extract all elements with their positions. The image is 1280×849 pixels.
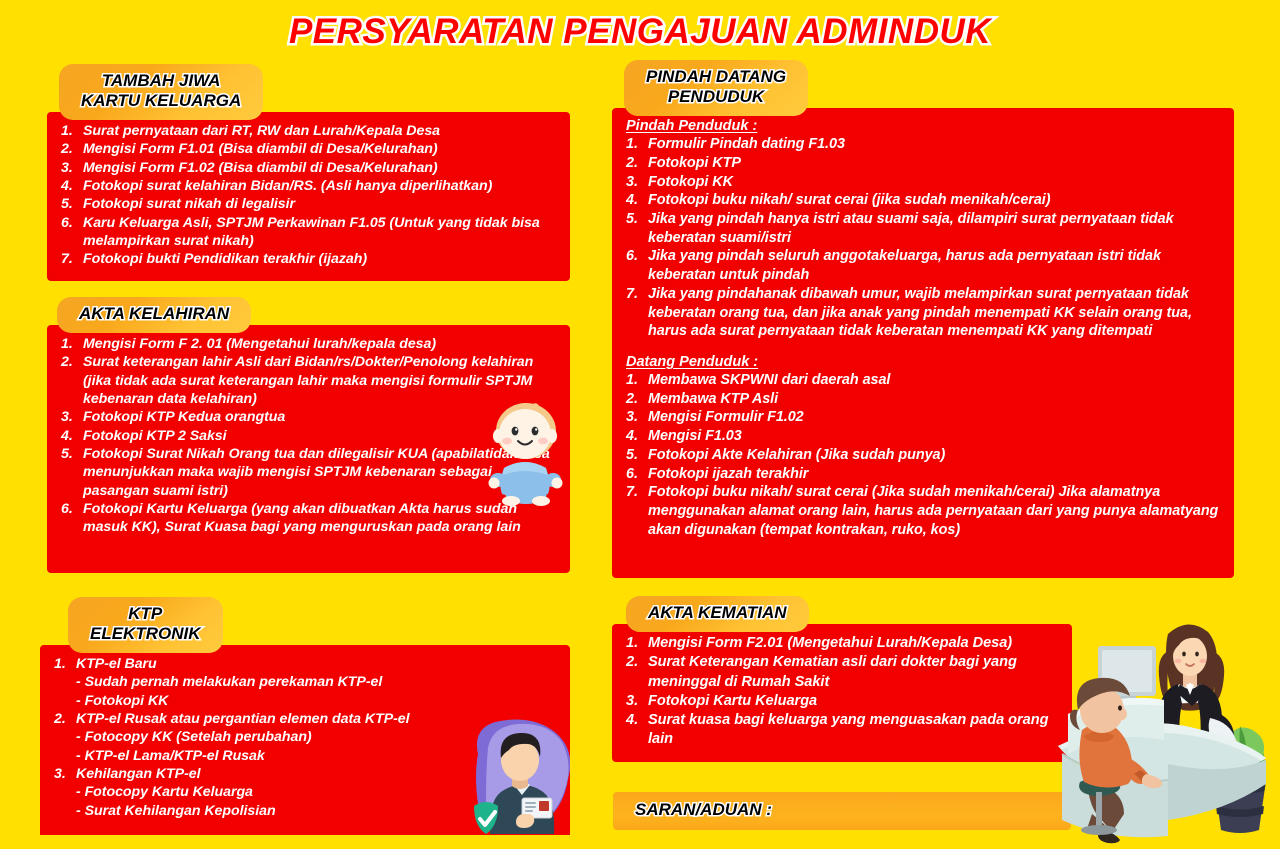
list-item: 7.Fotokopi bukti Pendidikan terakhir (ij… — [61, 250, 556, 268]
list-item: 1.Surat pernyataan dari RT, RW dan Lurah… — [61, 122, 556, 140]
list-item: 1.KTP-el Baru — [54, 655, 556, 673]
list-item: 1.Formulir Pindah dating F1.03 — [626, 135, 1220, 154]
list-item: 4.Surat kuasa bagi keluarga yang menguas… — [626, 711, 1058, 750]
list-number: 5. — [626, 446, 648, 465]
list-item: 4.Mengisi F1.03 — [626, 427, 1220, 446]
list-item: 6.Fotokopi ijazah terakhir — [626, 465, 1220, 484]
list-text: Mengisi Form F1.02 (Bisa diambil di Desa… — [83, 159, 556, 177]
baby-illustration — [482, 398, 570, 506]
list-number: 7. — [626, 483, 648, 539]
list-text: Mengisi Form F 2. 01 (Mengetahui lurah/k… — [83, 335, 556, 353]
list-item: 6.Karu Keluarga Asli, SPTJM Perkawinan F… — [61, 214, 556, 251]
saran-aduan-label: SARAN/ADUAN : — [635, 800, 772, 820]
list-text: Karu Keluarga Asli, SPTJM Perkawinan F1.… — [83, 214, 556, 251]
section-body-pindah-datang: Pindah Penduduk : 1.Formulir Pindah dati… — [612, 108, 1234, 578]
list-number: 1. — [54, 655, 76, 673]
list-number: 5. — [626, 210, 648, 247]
list-item: 6.Jika yang pindah seluruh anggotakeluar… — [626, 247, 1220, 284]
list-number: 2. — [626, 154, 648, 173]
section-tambah-jiwa: TAMBAH JIWA KARTU KELUARGA 1.Surat perny… — [47, 64, 570, 281]
list-text: Jika yang pindah seluruh anggotakeluarga… — [648, 247, 1220, 284]
section-header-tambah-jiwa: TAMBAH JIWA KARTU KELUARGA — [59, 64, 263, 120]
section-body-akta-kematian: 1.Mengisi Form F2.01 (Mengetahui Lurah/K… — [612, 624, 1072, 762]
list-number: 4. — [61, 427, 83, 445]
list-number: 3. — [61, 159, 83, 177]
service-desk-illustration — [1040, 618, 1280, 844]
list-text: Membawa SKPWNI dari daerah asal — [648, 371, 1220, 390]
list-number: 2. — [626, 390, 648, 409]
list-item: 7.Fotokopi buku nikah/ surat cerai (Jika… — [626, 483, 1220, 539]
group-spacer — [626, 341, 1220, 354]
list-number: 4. — [61, 177, 83, 195]
list-number: 2. — [61, 140, 83, 158]
list-number: 3. — [54, 765, 76, 783]
list-text: Fotokopi ijazah terakhir — [648, 465, 1220, 484]
list-number: 2. — [61, 353, 83, 408]
list-number: 5. — [61, 195, 83, 213]
list-text: Fotokopi Kartu Keluarga — [648, 692, 1058, 711]
section-header-ktp-elektronik: KTP ELEKTRONIK — [68, 597, 223, 653]
list-number: 6. — [61, 214, 83, 251]
list-subitem: - Fotokopi KK — [54, 692, 556, 710]
list-number: 4. — [626, 711, 648, 750]
list-text: Jika yang pindah hanya istri atau suami … — [648, 210, 1220, 247]
section-body-tambah-jiwa: 1.Surat pernyataan dari RT, RW dan Lurah… — [47, 112, 570, 281]
list-item: 1.Membawa SKPWNI dari daerah asal — [626, 371, 1220, 390]
list-item: 5.Fotokopi Akte Kelahiran (Jika sudah pu… — [626, 446, 1220, 465]
list-item: 3.Mengisi Form F1.02 (Bisa diambil di De… — [61, 159, 556, 177]
list-text: Fotokopi KTP — [648, 154, 1220, 173]
list-number: 6. — [61, 500, 83, 537]
list-text: Membawa KTP Asli — [648, 390, 1220, 409]
list-item: 4.Fotokopi surat kelahiran Bidan/RS. (As… — [61, 177, 556, 195]
list-item: 3.Mengisi Formulir F1.02 — [626, 408, 1220, 427]
list-item: 2.Mengisi Form F1.01 (Bisa diambil di De… — [61, 140, 556, 158]
page-title: PERSYARATAN PENGAJUAN ADMINDUK — [0, 12, 1280, 52]
section-akta-kematian: AKTA KEMATIAN 1.Mengisi Form F2.01 (Meng… — [612, 596, 1072, 762]
list-subtext: - Fotokopi KK — [76, 692, 556, 710]
poster-canvas: PERSYARATAN PENGAJUAN ADMINDUK TAMBAH JI… — [0, 0, 1280, 844]
list-subtext: - Sudah pernah melakukan perekaman KTP-e… — [76, 673, 556, 691]
group-title-pindah-penduduk: Pindah Penduduk : — [626, 118, 1220, 134]
section-pindah-datang-penduduk: PINDAH DATANG PENDUDUK Pindah Penduduk :… — [612, 60, 1234, 578]
list-number: 1. — [61, 335, 83, 353]
list-number: 1. — [61, 122, 83, 140]
group-title-datang-penduduk: Datang Penduduk : — [626, 354, 1220, 370]
list-text: Mengisi F1.03 — [648, 427, 1220, 446]
list-item: 2.Surat Keterangan Kematian asli dari do… — [626, 653, 1058, 692]
list-item: 1.Mengisi Form F 2. 01 (Mengetahui lurah… — [61, 335, 556, 353]
list-text: Surat kuasa bagi keluarga yang menguasak… — [648, 711, 1058, 750]
section-header-akta-kematian: AKTA KEMATIAN — [626, 596, 809, 632]
list-subitem: - Sudah pernah melakukan perekaman KTP-e… — [54, 673, 556, 691]
list-number: 5. — [61, 445, 83, 500]
list-number: 1. — [626, 634, 648, 653]
list-text: Mengisi Form F1.01 (Bisa diambil di Desa… — [83, 140, 556, 158]
section-header-akta-kelahiran: AKTA KELAHIRAN — [57, 297, 251, 333]
list-number: 3. — [626, 692, 648, 711]
list-number: 6. — [626, 465, 648, 484]
list-text: Fotokopi buku nikah/ surat cerai (Jika s… — [648, 483, 1220, 539]
section-header-pindah-datang: PINDAH DATANG PENDUDUK — [624, 60, 808, 116]
list-number: 7. — [61, 250, 83, 268]
list-number: 3. — [626, 408, 648, 427]
list-number: 2. — [54, 710, 76, 728]
list-item: 7.Jika yang pindahanak dibawah umur, waj… — [626, 285, 1220, 341]
list-text: Fotokopi KK — [648, 173, 1220, 192]
list-item: 5.Fotokopi surat nikah di legalisir — [61, 195, 556, 213]
list-text: Mengisi Formulir F1.02 — [648, 408, 1220, 427]
list-number: 7. — [626, 285, 648, 341]
person-holding-id-card-illustration — [470, 718, 570, 834]
list-text: Fotokopi Akte Kelahiran (Jika sudah puny… — [648, 446, 1220, 465]
list-text: Fotokopi bukti Pendidikan terakhir (ijaz… — [83, 250, 556, 268]
list-number: 2. — [626, 653, 648, 692]
list-text: Mengisi Form F2.01 (Mengetahui Lurah/Kep… — [648, 634, 1058, 653]
list-text: Surat pernyataan dari RT, RW dan Lurah/K… — [83, 122, 556, 140]
list-text: Jika yang pindahanak dibawah umur, wajib… — [648, 285, 1220, 341]
list-text: Fotokopi buku nikah/ surat cerai (jika s… — [648, 191, 1220, 210]
list-number: 3. — [61, 408, 83, 426]
list-number: 4. — [626, 191, 648, 210]
list-item: 2.Membawa KTP Asli — [626, 390, 1220, 409]
list-item: 5.Jika yang pindah hanya istri atau suam… — [626, 210, 1220, 247]
list-text: Fotokopi surat nikah di legalisir — [83, 195, 556, 213]
list-number: 1. — [626, 135, 648, 154]
list-text: Surat Keterangan Kematian asli dari dokt… — [648, 653, 1058, 692]
list-number: 6. — [626, 247, 648, 284]
list-item: 2.Fotokopi KTP — [626, 154, 1220, 173]
list-text: Fotokopi surat kelahiran Bidan/RS. (Asli… — [83, 177, 556, 195]
list-item: 1.Mengisi Form F2.01 (Mengetahui Lurah/K… — [626, 634, 1058, 653]
list-text: Formulir Pindah dating F1.03 — [648, 135, 1220, 154]
list-number: 1. — [626, 371, 648, 390]
list-number: 4. — [626, 427, 648, 446]
saran-aduan-bar[interactable]: SARAN/ADUAN : — [613, 792, 1071, 830]
list-number: 3. — [626, 173, 648, 192]
list-text: KTP-el Baru — [76, 655, 556, 673]
list-item: 3.Fotokopi KK — [626, 173, 1220, 192]
list-item: 3.Fotokopi Kartu Keluarga — [626, 692, 1058, 711]
list-item: 4.Fotokopi buku nikah/ surat cerai (jika… — [626, 191, 1220, 210]
